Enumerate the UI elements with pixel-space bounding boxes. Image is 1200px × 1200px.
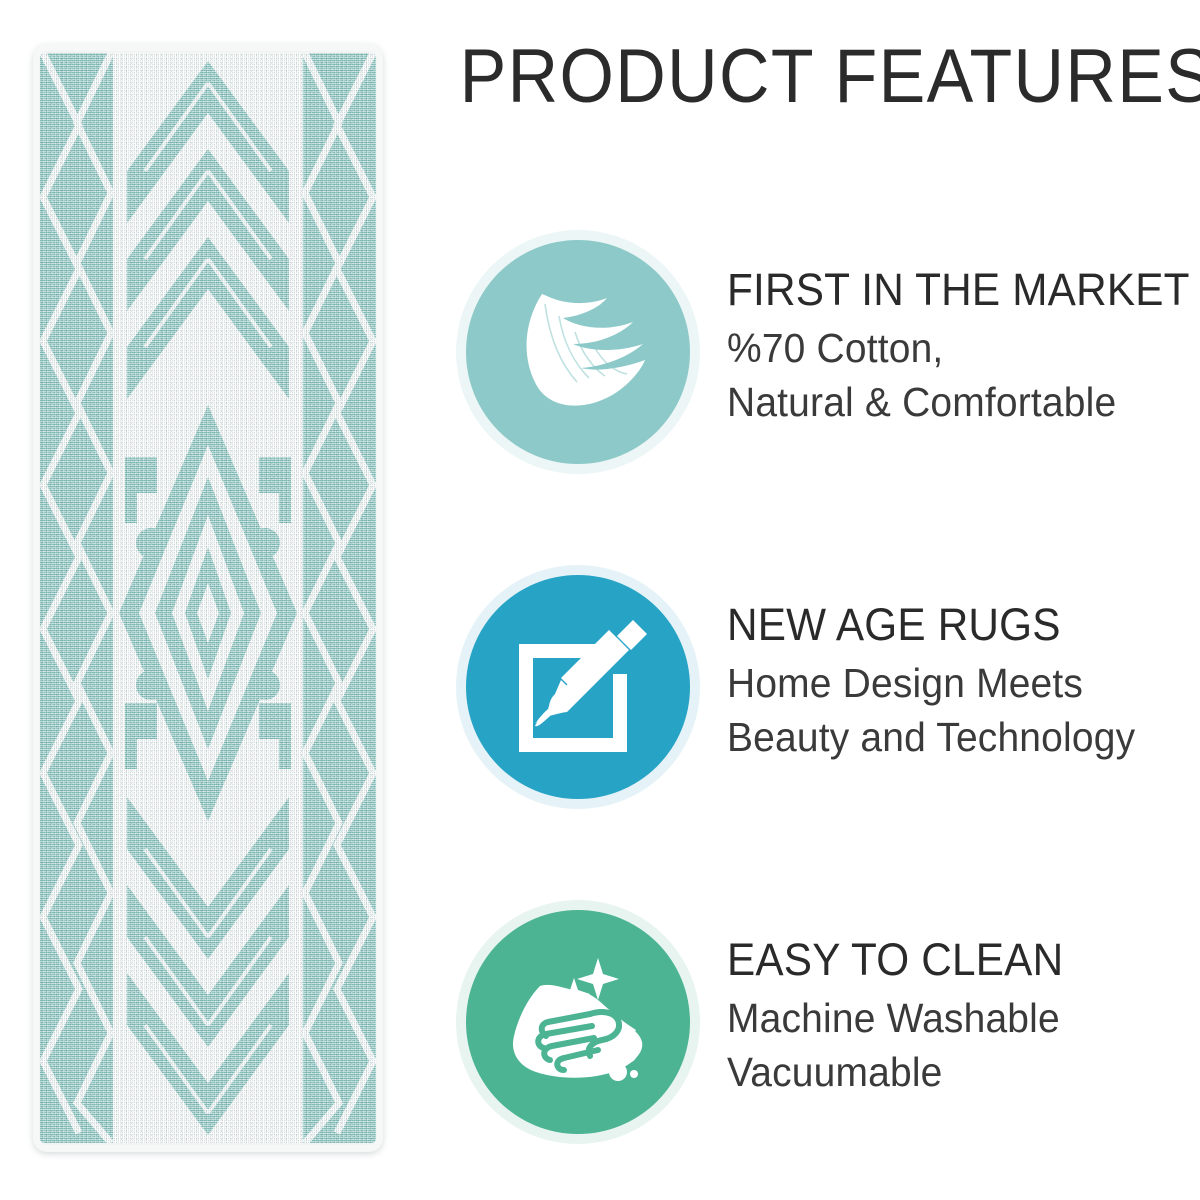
feature-line-2: Beauty and Technology	[727, 710, 1164, 764]
feather-icon	[503, 282, 653, 422]
feature-text-block: FIRST IN THE MARKET %70 Cotton, Natural …	[727, 265, 1187, 429]
icon-disc	[466, 575, 690, 799]
feature-line-1: Machine Washable	[727, 991, 1164, 1045]
feature-line-1: Home Design Meets	[727, 656, 1164, 710]
icon-disc	[466, 240, 690, 464]
feature-item-first-in-the-market: FIRST IN THE MARKET %70 Cotton, Natural …	[430, 222, 1200, 472]
feature-text-block: NEW AGE RUGS Home Design Meets Beauty an…	[727, 600, 1187, 764]
product-image-panel	[0, 0, 430, 1200]
icon-disc	[466, 910, 690, 1134]
design-pen-icon	[505, 614, 651, 760]
rug-pile-field	[39, 53, 377, 1143]
infographic-page: PRODUCT FEATURES	[0, 0, 1200, 1200]
rug-runner-photo	[33, 44, 383, 1152]
feature-icon-wrap	[430, 892, 680, 1142]
feature-heading: EASY TO CLEAN	[727, 935, 1159, 985]
features-content: PRODUCT FEATURES	[430, 0, 1200, 1200]
cleaning-hand-icon	[502, 952, 654, 1092]
feature-heading: FIRST IN THE MARKET	[727, 265, 1159, 315]
feature-line-1: %70 Cotton,	[727, 321, 1164, 375]
page-title: PRODUCT FEATURES	[460, 34, 1141, 120]
feature-line-2: Vacuumable	[727, 1045, 1164, 1099]
feature-icon-wrap	[430, 557, 680, 807]
rug-pattern-graphic	[39, 53, 377, 1143]
feature-item-easy-to-clean: EASY TO CLEAN Machine Washable Vacuumabl…	[430, 892, 1200, 1142]
feature-text-block: EASY TO CLEAN Machine Washable Vacuumabl…	[727, 935, 1187, 1099]
feature-line-2: Natural & Comfortable	[727, 375, 1164, 429]
feature-heading: NEW AGE RUGS	[727, 600, 1159, 650]
feature-icon-wrap	[430, 222, 680, 472]
feature-item-new-age-rugs: NEW AGE RUGS Home Design Meets Beauty an…	[430, 557, 1200, 807]
